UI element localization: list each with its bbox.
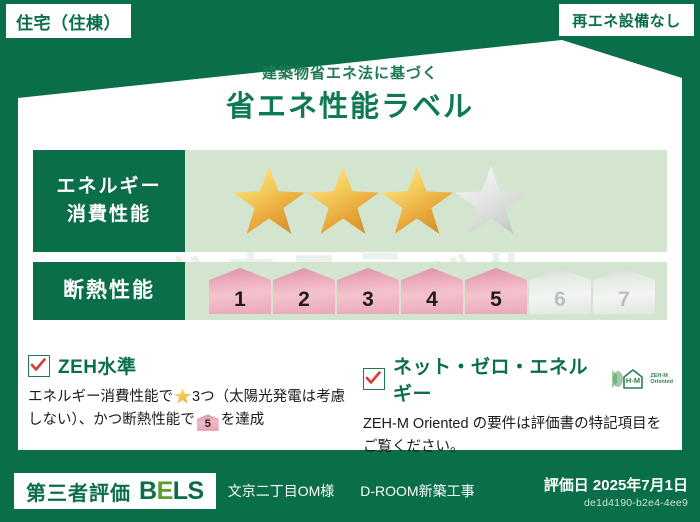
svg-text:H-M: H-M: [626, 376, 640, 385]
bels-badge: 第三者評価 BELS: [14, 473, 216, 509]
evaluation-info: 評価日 2025年7月1日 de1d4190-b2e4-4ee9: [544, 474, 688, 509]
star-empty-icon: [455, 166, 527, 236]
insulation-level-active: 4: [401, 268, 463, 314]
check-icon: [363, 368, 385, 390]
insulation-level-number: 2: [298, 289, 310, 310]
zeh-text-part1: エネルギー消費性能で: [28, 389, 173, 405]
footer-bar: 第三者評価 BELS 文京二丁目OM様 D-ROOM新築工事 評価日 2025年…: [0, 460, 700, 522]
insulation-level-active: 3: [337, 268, 399, 314]
net-zero-title: ネット・ゼロ・エネルギー: [393, 352, 596, 406]
page-title: 省エネ性能ラベル: [0, 83, 700, 125]
star-filled-icon: [233, 166, 305, 236]
insulation-performance-row: 断熱性能 1234567: [33, 262, 667, 320]
owner-name: 文京二丁目OM様: [228, 481, 335, 501]
insulation-level-inactive: 7: [593, 268, 655, 314]
zeh-standard-section: ZEH水準 エネルギー消費性能で3つ（太陽光発電は考慮しない）、かつ断熱性能で5…: [28, 352, 348, 433]
label-subtitle: 建築物省エネ法に基づく: [0, 62, 700, 83]
insulation-level-number: 1: [234, 289, 246, 310]
insulation-level-scale: 1234567: [185, 262, 667, 320]
zeh-m-house-icon: H-M: [608, 366, 648, 392]
insulation-level-number: 6: [554, 289, 566, 310]
insulation-level-active: 1: [209, 268, 271, 314]
evaluation-id: de1d4190-b2e4-4ee9: [544, 497, 688, 509]
net-zero-energy-section: ネット・ゼロ・エネルギー H-M ZEH-M Oriented ZEH-M Or…: [363, 352, 673, 460]
third-party-eval-label: 第三者評価: [26, 477, 131, 506]
star-icon: [174, 388, 191, 404]
zeh-m-logo-line2: Oriented: [650, 379, 673, 385]
zeh-title: ZEH水準: [58, 352, 137, 379]
energy-performance-label: 住宅（住棟） 再エネ設備なし ハウスラベル 建築物省エネ法に基づく 省エネ性能ラ…: [0, 0, 700, 522]
insulation-level-number: 7: [618, 289, 630, 310]
insulation-level-active: 2: [273, 268, 335, 314]
energy-performance-row: エネルギー 消費性能: [33, 150, 667, 252]
renewable-equipment-tag: 再エネ設備なし: [559, 4, 694, 36]
energy-performance-label: エネルギー 消費性能: [33, 150, 185, 252]
net-zero-description: ZEH-M Oriented の要件は評価書の特記項目をご覧ください。: [363, 413, 673, 460]
insulation-level-number: 3: [362, 289, 374, 310]
star-filled-icon: [307, 166, 379, 236]
project-name: D-ROOM新築工事: [360, 481, 474, 501]
zeh-m-oriented-logo: H-M ZEH-M Oriented: [608, 366, 673, 392]
bels-letter-b: B: [139, 477, 157, 505]
insulation-level-inactive: 6: [529, 268, 591, 314]
dwelling-type-tag: 住宅（住棟）: [6, 4, 131, 38]
bels-wordmark: BELS: [139, 477, 204, 506]
zeh-text-part3: を達成: [221, 412, 265, 428]
insulation-performance-label: 断熱性能: [33, 262, 185, 320]
energy-label-line1: エネルギー: [56, 173, 161, 201]
bels-letters-ls: LS: [173, 477, 204, 505]
level-badge-icon: 5: [197, 414, 219, 431]
insulation-level-number: 5: [490, 289, 502, 310]
bels-letter-e: E: [157, 477, 173, 505]
star-filled-icon: [381, 166, 453, 236]
check-icon: [28, 355, 50, 377]
insulation-level-active: 5: [465, 268, 527, 314]
star-rating: [185, 150, 667, 252]
net-zero-heading: ネット・ゼロ・エネルギー H-M ZEH-M Oriented: [363, 352, 673, 406]
energy-label-line2: 消費性能: [56, 201, 161, 229]
evaluation-date: 評価日 2025年7月1日: [544, 474, 688, 495]
insulation-level-number: 4: [426, 289, 438, 310]
zeh-description: エネルギー消費性能で3つ（太陽光発電は考慮しない）、かつ断熱性能で5を達成: [28, 386, 348, 433]
zeh-heading: ZEH水準: [28, 352, 348, 379]
